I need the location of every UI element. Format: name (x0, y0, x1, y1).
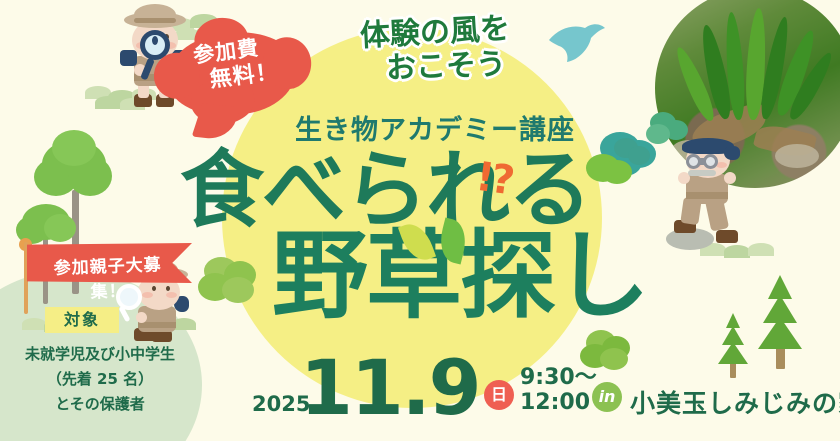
event-time: 9:30〜 12:00 (520, 366, 597, 415)
event-venue: 小美玉しみじみの家 (630, 384, 840, 420)
bush-decor (612, 136, 652, 170)
target-badge: 対象 (45, 307, 119, 333)
target-badge-label: 対象 (45, 307, 119, 333)
pine-tree-small (710, 310, 756, 382)
event-date: 11.9 (300, 350, 480, 426)
event-time-end: 12:00 (520, 391, 597, 416)
target-details: 未就学児及び小中学生 （先着 25 名） とその保護者 (0, 342, 200, 416)
day-of-week-badge: 日 (484, 380, 514, 410)
title-exclamation-marks: !? (473, 154, 515, 204)
target-line-1: 未就学児及び小中学生 (0, 342, 200, 367)
mound-decor (22, 318, 46, 330)
in-badge: in (592, 382, 622, 412)
campaign-logo-line-2: おこそう (342, 48, 551, 85)
target-line-2: （先着 25 名） (0, 367, 200, 392)
campaign-logo-line-1: 体験の風を (319, 12, 550, 54)
explorer-with-binoculars (670, 140, 756, 250)
campaign-logo: 体験の風を おこそう (320, 18, 550, 100)
fee-bubble-text: 参加費 無料！ (168, 33, 298, 117)
bush-decor (196, 255, 266, 307)
event-poster: 参加費 無料！ 体験の風を おこそう 生き物アカデミー講座 食べられる !? 野… (0, 0, 840, 441)
recruit-flag-label: 参加親子大募集！ (37, 250, 179, 305)
target-line-3: とその保護者 (0, 392, 200, 417)
bird-icon (545, 18, 609, 68)
event-time-start: 9:30〜 (520, 366, 597, 391)
